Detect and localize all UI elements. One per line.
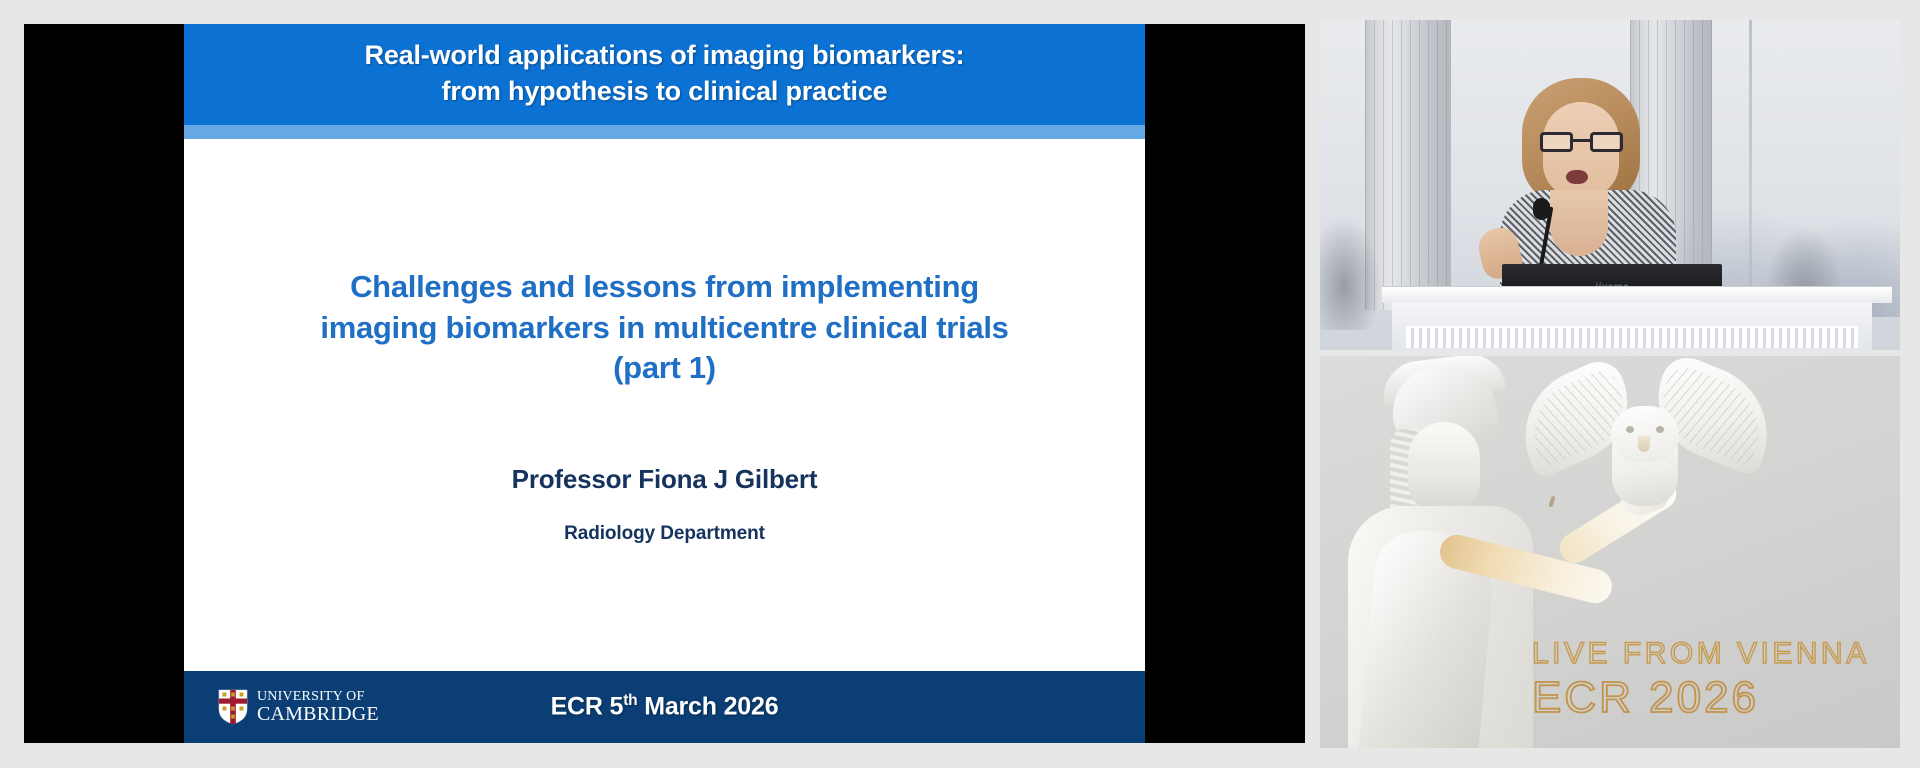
wall-shadow-left <box>1320 218 1380 330</box>
speaker-mouth <box>1566 170 1588 184</box>
presenter-name: Professor Fiona J Gilbert <box>512 464 818 495</box>
speaker-glasses-icon <box>1540 132 1623 152</box>
slide-stage[interactable]: Real-world applications of imaging bioma… <box>24 24 1305 743</box>
owl-eye-right <box>1656 426 1664 433</box>
screen: Real-world applications of imaging bioma… <box>0 0 1920 768</box>
session-title-line-2: from hypothesis to clinical practice <box>210 74 1119 110</box>
main-title-line-3: (part 1) <box>224 348 1105 388</box>
event-date-ordinal: th <box>623 692 637 709</box>
event-date-label: ECR 5th March 2026 <box>184 692 1145 721</box>
owl-beak <box>1638 436 1650 452</box>
event-date-suffix: March 2026 <box>637 693 778 721</box>
main-title-line-2: imaging biomarkers in multicentre clinic… <box>224 308 1105 348</box>
event-branding-panel[interactable]: LIVE FROM VIENNA ECR 2026 <box>1320 356 1900 748</box>
owl-eye-left <box>1626 426 1634 433</box>
lectern-cornice <box>1406 326 1858 348</box>
slide-footer-band: UNIVERSITY OF CAMBRIDGE ECR 5th March 20… <box>184 671 1145 743</box>
slide-accent-strip <box>184 125 1145 139</box>
slide-body: Challenges and lessons from implementing… <box>184 139 1145 671</box>
lectern: iiyama <box>1382 264 1892 350</box>
glasses-lens-right <box>1590 132 1623 152</box>
speaker-neckline <box>1550 190 1608 256</box>
speaker-figure <box>1488 78 1688 293</box>
event-branding-text: LIVE FROM VIENNA ECR 2026 <box>1532 637 1884 722</box>
event-date-prefix: ECR 5 <box>551 693 624 721</box>
glasses-lens-left <box>1540 132 1573 152</box>
speaker-video-panel[interactable]: iiyama <box>1320 20 1900 350</box>
athena-face <box>1408 422 1480 514</box>
glasses-bridge <box>1573 139 1590 142</box>
session-title-line-1: Real-world applications of imaging bioma… <box>210 38 1119 74</box>
lectern-top <box>1382 286 1892 303</box>
main-title-line-1: Challenges and lessons from implementing <box>224 267 1105 307</box>
slide-header-band: Real-world applications of imaging bioma… <box>184 24 1145 125</box>
presenter-department: Radiology Department <box>564 523 765 545</box>
ecr-2026-label: ECR 2026 <box>1532 674 1884 722</box>
owl-head <box>1611 406 1679 462</box>
live-from-vienna-label: LIVE FROM VIENNA <box>1532 637 1884 670</box>
slide-main-title: Challenges and lessons from implementing… <box>224 267 1105 388</box>
owl-figure <box>1516 366 1776 531</box>
presentation-slide: Real-world applications of imaging bioma… <box>184 24 1145 743</box>
